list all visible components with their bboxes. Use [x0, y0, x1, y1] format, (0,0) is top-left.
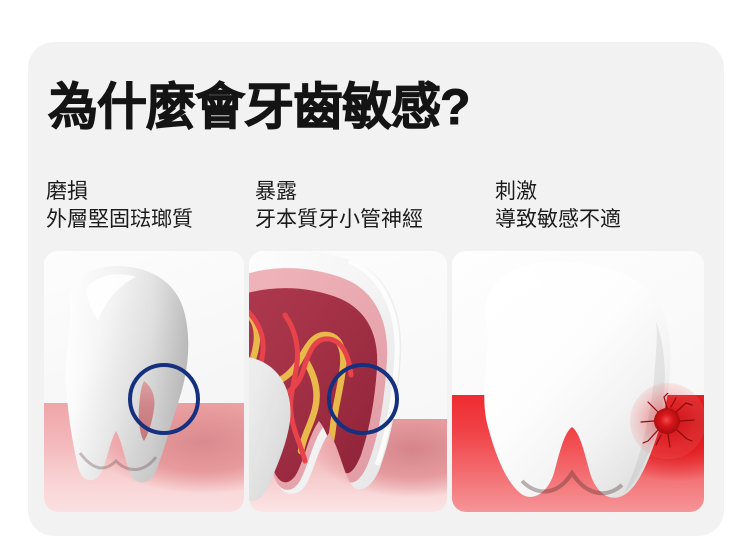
- panel-enamel-wear: [44, 251, 244, 512]
- blue-circle-highlight: [128, 363, 200, 435]
- blue-circle-highlight: [327, 363, 399, 435]
- caption-row: 磨損 外層堅固琺瑯質 暴露 牙本質牙小管神經 刺激 導致敏感不適: [46, 178, 708, 240]
- caption-abrasion: 磨損 外層堅固琺瑯質: [46, 178, 193, 234]
- caption-irritation: 刺激 導致敏感不適: [495, 178, 621, 234]
- page-title: 為什麼會牙齒敏感?: [48, 78, 470, 136]
- caption-abrasion-line2: 外層堅固琺瑯質: [46, 206, 193, 234]
- crack-lines-icon: [640, 393, 696, 449]
- caption-irritation-line1: 刺激: [495, 178, 621, 206]
- caption-exposure-line2: 牙本質牙小管神經: [255, 206, 423, 234]
- caption-exposure-line1: 暴露: [255, 178, 423, 206]
- panel-dentin-exposure: [249, 251, 447, 512]
- caption-abrasion-line1: 磨損: [46, 178, 193, 206]
- tooth-pain-flare-illustration: [466, 261, 680, 501]
- caption-irritation-line2: 導致敏感不適: [495, 206, 621, 234]
- caption-exposure: 暴露 牙本質牙小管神經: [255, 178, 423, 234]
- panel-pain-irritation: [452, 251, 704, 512]
- illustration-row: [44, 251, 704, 512]
- infographic-page: 為什麼會牙齒敏感? 磨損 外層堅固琺瑯質 暴露 牙本質牙小管神經 刺激 導致敏感…: [0, 0, 750, 556]
